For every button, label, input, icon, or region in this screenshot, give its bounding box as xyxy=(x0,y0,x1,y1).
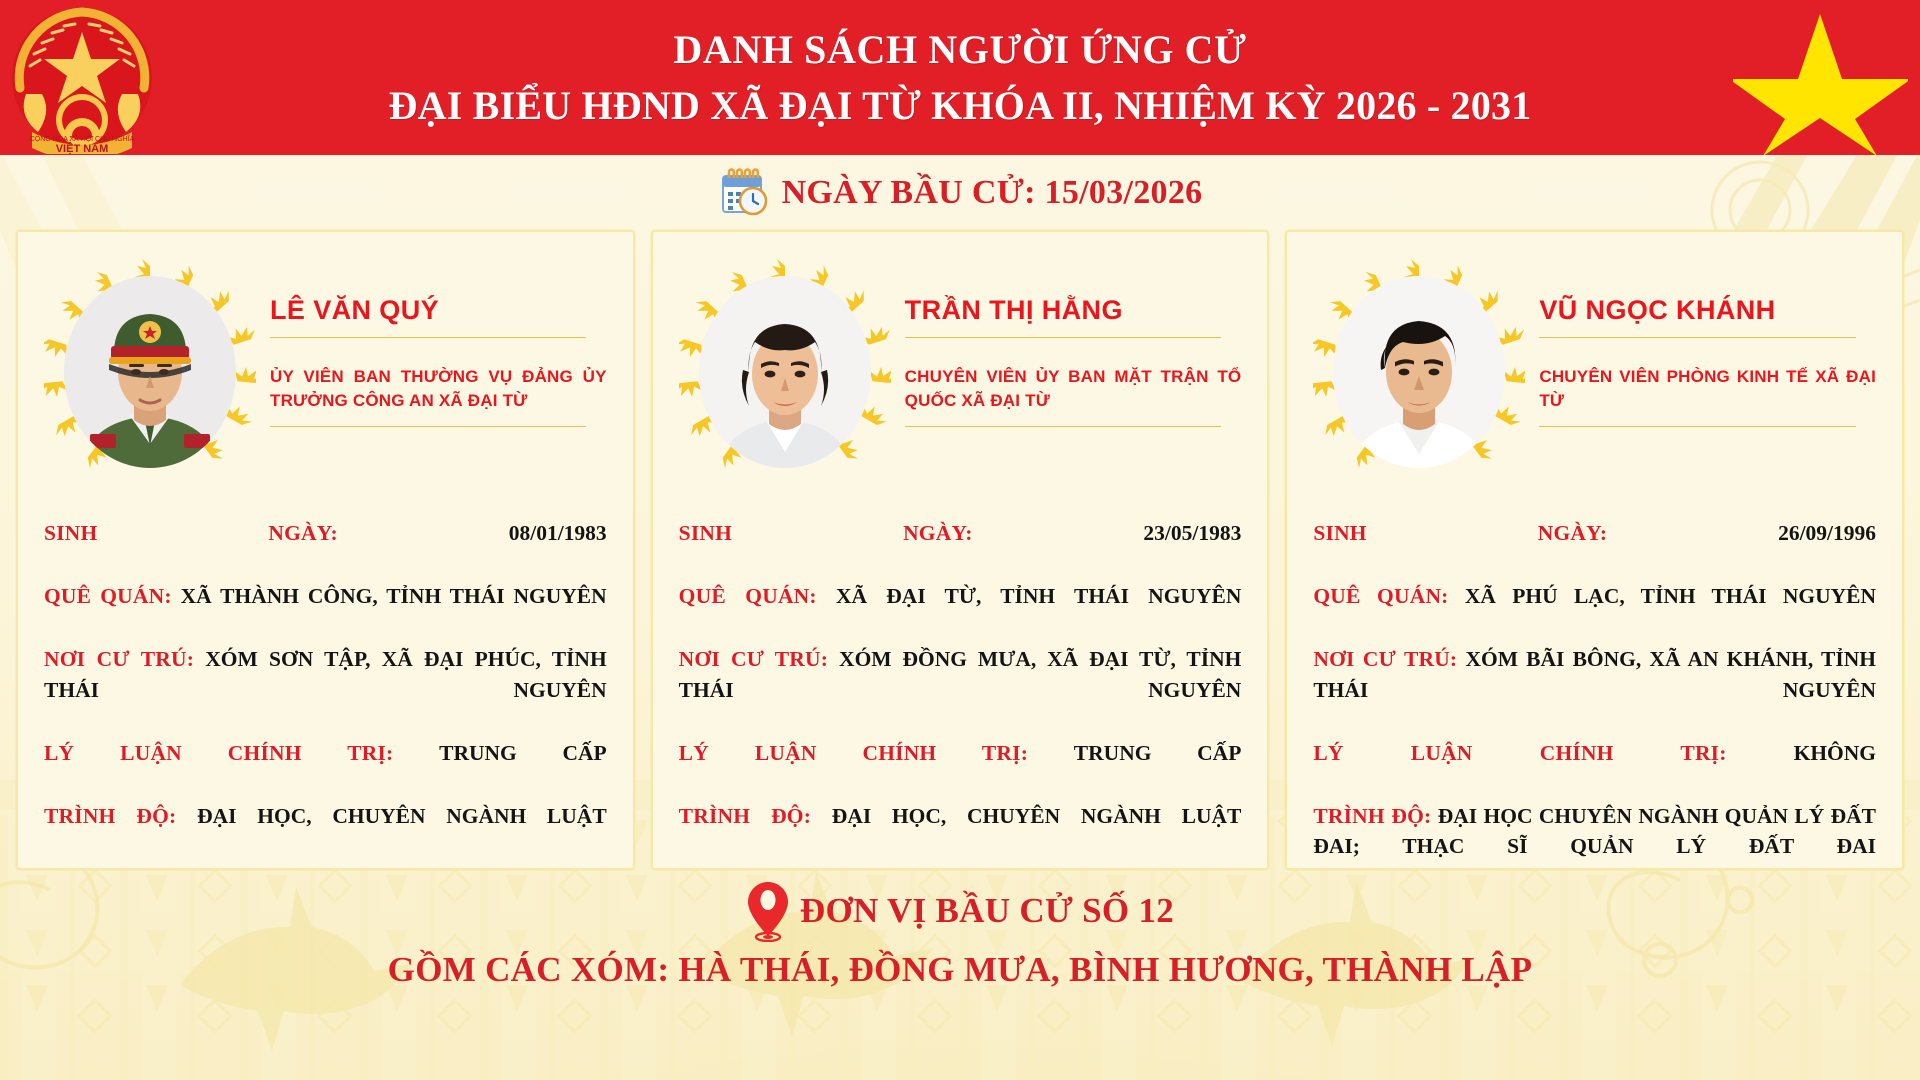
candidate-photo xyxy=(699,276,871,468)
detail-label: QUÊ QUÁN: xyxy=(1313,584,1448,608)
detail-label: TRÌNH ĐỘ: xyxy=(679,804,811,828)
detail-label: LÝ LUẬN CHÍNH TRỊ: xyxy=(1313,741,1726,765)
election-date-bar: NGÀY BẦU CỬ: 15/03/2026 xyxy=(0,155,1920,230)
candidate-identity: VŨ NGỌC KHÁNH CHUYÊN VIÊN PHÒNG KINH TẾ … xyxy=(1539,258,1876,427)
candidate-card[interactable]: LÊ VĂN QUÝ ỦY VIÊN BAN THƯỜNG VỤ ĐẢNG ỦY… xyxy=(16,230,635,870)
detail-value: ĐẠI HỌC, CHUYÊN NGÀNH LUẬT xyxy=(197,804,607,828)
name-underline xyxy=(905,337,1221,338)
calendar-clock-icon xyxy=(718,167,770,219)
detail-hometown: QUÊ QUÁN: XÃ THÀNH CÔNG, TỈNH THÁI NGUYÊ… xyxy=(44,581,607,642)
vietnam-national-emblem-icon: CỘNG HÒA XÃ HỘI CHỦ NGHĨA VIỆT NAM xyxy=(6,2,158,154)
page-header: CỘNG HÒA XÃ HỘI CHỦ NGHĨA VIỆT NAM DANH … xyxy=(0,0,1920,155)
detail-label: TRÌNH ĐỘ: xyxy=(1313,804,1431,828)
detail-label: SINH NGÀY: xyxy=(679,521,973,545)
detail-value: 08/01/1983 xyxy=(509,521,607,545)
detail-value: 26/09/1996 xyxy=(1778,521,1876,545)
candidate-details: SINH NGÀY: 23/05/1983 QUÊ QUÁN: XÃ ĐẠI T… xyxy=(679,518,1242,864)
detail-value: XÃ ĐẠI TỪ, TỈNH THÁI NGUYÊN xyxy=(836,584,1241,608)
name-underline xyxy=(270,337,586,338)
candidate-photo xyxy=(1333,276,1505,468)
candidate-role: CHUYÊN VIÊN PHÒNG KINH TẾ XÃ ĐẠI TỪ xyxy=(1539,365,1876,414)
detail-label: SINH NGÀY: xyxy=(1313,521,1607,545)
role-underline xyxy=(905,426,1221,427)
detail-label: NƠI CƯ TRÚ: xyxy=(1313,647,1457,671)
page-title-line2: ĐẠI BIỂU HĐND XÃ ĐẠI TỪ KHÓA II, NHIỆM K… xyxy=(210,82,1710,129)
candidate-header: TRẦN THỊ HẰNG CHUYÊN VIÊN ỦY BAN MẶT TRẬ… xyxy=(679,258,1242,486)
candidate-name: LÊ VĂN QUÝ xyxy=(270,296,607,326)
candidate-details: SINH NGÀY: 08/01/1983 QUÊ QUÁN: XÃ THÀNH… xyxy=(44,518,607,864)
name-underline xyxy=(1539,337,1855,338)
detail-residence: NƠI CƯ TRÚ: XÓM BÃI BÔNG, XÃ AN KHÁNH, T… xyxy=(1313,644,1876,736)
detail-value: XÃ PHÚ LẠC, TỈNH THÁI NGUYÊN xyxy=(1465,584,1876,608)
yellow-star-icon xyxy=(1733,6,1908,155)
detail-birthdate: SINH NGÀY: 26/09/1996 xyxy=(1313,518,1876,579)
election-date-label: NGÀY BẦU CỬ: 15/03/2026 xyxy=(782,174,1203,212)
candidate-details: SINH NGÀY: 26/09/1996 QUÊ QUÁN: XÃ PHÚ L… xyxy=(1313,518,1876,894)
detail-education: TRÌNH ĐỘ: ĐẠI HỌC, CHUYÊN NGÀNH LUẬT xyxy=(44,801,607,862)
detail-label: NƠI CƯ TRÚ: xyxy=(679,647,828,671)
detail-label: LÝ LUẬN CHÍNH TRỊ: xyxy=(679,741,1028,765)
detail-label: QUÊ QUÁN: xyxy=(679,584,817,608)
detail-hometown: QUÊ QUÁN: XÃ ĐẠI TỪ, TỈNH THÁI NGUYÊN xyxy=(679,581,1242,642)
detail-residence: NƠI CƯ TRÚ: XÓM ĐỒNG MƯA, XÃ ĐẠI TỪ, TỈN… xyxy=(679,644,1242,736)
candidate-name: TRẦN THỊ HẰNG xyxy=(905,296,1242,326)
hamlets-label: GỒM CÁC XÓM: HÀ THÁI, ĐỒNG MƯA, BÌNH HƯƠ… xyxy=(0,950,1920,990)
detail-value: KHÔNG xyxy=(1794,741,1876,765)
detail-political-theory: LÝ LUẬN CHÍNH TRỊ: TRUNG CẤP xyxy=(679,738,1242,799)
header-title-group: DANH SÁCH NGƯỜI ỨNG CỬ ĐẠI BIỂU HĐND XÃ … xyxy=(0,26,1920,128)
role-underline xyxy=(270,426,586,427)
detail-label: TRÌNH ĐỘ: xyxy=(44,804,176,828)
electoral-unit-label: ĐƠN VỊ BẦU CỬ SỐ 12 xyxy=(800,891,1174,931)
candidate-cards-row: LÊ VĂN QUÝ ỦY VIÊN BAN THƯỜNG VỤ ĐẢNG ỦY… xyxy=(0,230,1920,870)
electoral-unit-line: ĐƠN VỊ BẦU CỬ SỐ 12 xyxy=(0,880,1920,942)
svg-text:CỘNG HÒA XÃ HỘI CHỦ NGHĨA: CỘNG HÒA XÃ HỘI CHỦ NGHĨA xyxy=(30,134,135,143)
candidate-name: VŨ NGỌC KHÁNH xyxy=(1539,296,1876,326)
candidate-card[interactable]: TRẦN THỊ HẰNG CHUYÊN VIÊN ỦY BAN MẶT TRẬ… xyxy=(651,230,1270,870)
svg-text:VIỆT NAM: VIỆT NAM xyxy=(56,142,109,154)
detail-birthdate: SINH NGÀY: 08/01/1983 xyxy=(44,518,607,579)
detail-value: XÃ THÀNH CÔNG, TỈNH THÁI NGUYÊN xyxy=(181,584,607,608)
detail-label: LÝ LUẬN CHÍNH TRỊ: xyxy=(44,741,393,765)
candidate-role: ỦY VIÊN BAN THƯỜNG VỤ ĐẢNG ỦY TRƯỞNG CÔN… xyxy=(270,365,607,414)
detail-value: ĐẠI HỌC, CHUYÊN NGÀNH LUẬT xyxy=(832,804,1242,828)
role-underline xyxy=(1539,426,1855,427)
detail-hometown: QUÊ QUÁN: XÃ PHÚ LẠC, TỈNH THÁI NGUYÊN xyxy=(1313,581,1876,642)
detail-value: TRUNG CẤP xyxy=(1074,741,1242,765)
candidate-role: CHUYÊN VIÊN ỦY BAN MẶT TRẬN TỔ QUỐC XÃ Đ… xyxy=(905,365,1242,414)
detail-label: QUÊ QUÁN: xyxy=(44,584,172,608)
candidate-identity: TRẦN THỊ HẰNG CHUYÊN VIÊN ỦY BAN MẶT TRẬ… xyxy=(905,258,1242,427)
detail-label: NƠI CƯ TRÚ: xyxy=(44,647,194,671)
page-title-line1: DANH SÁCH NGƯỜI ỨNG CỬ xyxy=(210,26,1710,73)
detail-label: SINH NGÀY: xyxy=(44,521,338,545)
detail-political-theory: LÝ LUẬN CHÍNH TRỊ: KHÔNG xyxy=(1313,738,1876,799)
candidate-identity: LÊ VĂN QUÝ ỦY VIÊN BAN THƯỜNG VỤ ĐẢNG ỦY… xyxy=(270,258,607,427)
detail-education: TRÌNH ĐỘ: ĐẠI HỌC, CHUYÊN NGÀNH LUẬT xyxy=(679,801,1242,862)
candidate-photo xyxy=(64,276,236,468)
detail-value: 23/05/1983 xyxy=(1143,521,1241,545)
candidate-card[interactable]: VŨ NGỌC KHÁNH CHUYÊN VIÊN PHÒNG KINH TẾ … xyxy=(1285,230,1904,870)
page-footer: ĐƠN VỊ BẦU CỬ SỐ 12 GỒM CÁC XÓM: HÀ THÁI… xyxy=(0,870,1920,1070)
portrait-wrapper xyxy=(679,258,891,486)
candidate-header: LÊ VĂN QUÝ ỦY VIÊN BAN THƯỜNG VỤ ĐẢNG ỦY… xyxy=(44,258,607,486)
detail-political-theory: LÝ LUẬN CHÍNH TRỊ: TRUNG CẤP xyxy=(44,738,607,799)
candidate-header: VŨ NGỌC KHÁNH CHUYÊN VIÊN PHÒNG KINH TẾ … xyxy=(1313,258,1876,486)
portrait-wrapper xyxy=(1313,258,1525,486)
detail-value: TRUNG CẤP xyxy=(439,741,607,765)
detail-birthdate: SINH NGÀY: 23/05/1983 xyxy=(679,518,1242,579)
detail-residence: NƠI CƯ TRÚ: XÓM SƠN TẬP, XÃ ĐẠI PHÚC, TỈ… xyxy=(44,644,607,736)
location-pin-icon xyxy=(746,880,790,942)
portrait-wrapper xyxy=(44,258,256,486)
